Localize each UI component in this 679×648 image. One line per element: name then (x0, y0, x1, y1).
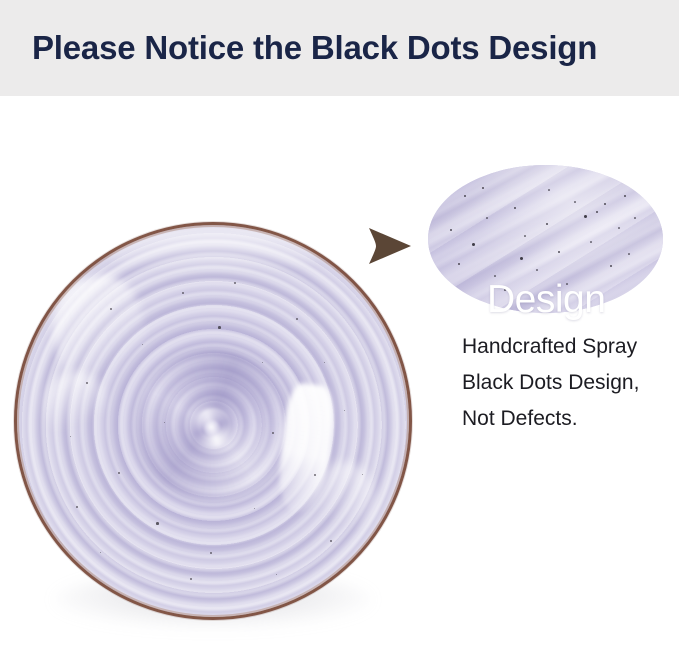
detail-black-dot (536, 269, 538, 271)
plate-image (14, 222, 412, 620)
caption-line-1: Handcrafted Spray (462, 329, 672, 365)
caption-line-2: Black Dots Design, (462, 365, 672, 401)
detail-black-dot (634, 217, 636, 219)
infographic-page: Please Notice the Black Dots Design (0, 0, 679, 648)
detail-black-dot (574, 201, 576, 203)
page-title: Please Notice the Black Dots Design (32, 28, 662, 68)
detail-black-dot (548, 189, 550, 191)
detail-black-dot (628, 253, 630, 255)
plate-rim-inner-edge (17, 225, 409, 617)
detail-black-dot (618, 227, 620, 229)
detail-black-dot (590, 241, 592, 243)
caption-block: Handcrafted Spray Black Dots Design, Not… (462, 329, 672, 437)
magnify-arrow-icon (366, 226, 414, 266)
design-overlay-label: Design (487, 278, 605, 322)
header-band: Please Notice the Black Dots Design (0, 0, 679, 96)
detail-black-dot (524, 235, 526, 237)
detail-black-dot (486, 217, 488, 219)
caption-line-3: Not Defects. (462, 401, 672, 437)
detail-black-dot (494, 275, 496, 277)
